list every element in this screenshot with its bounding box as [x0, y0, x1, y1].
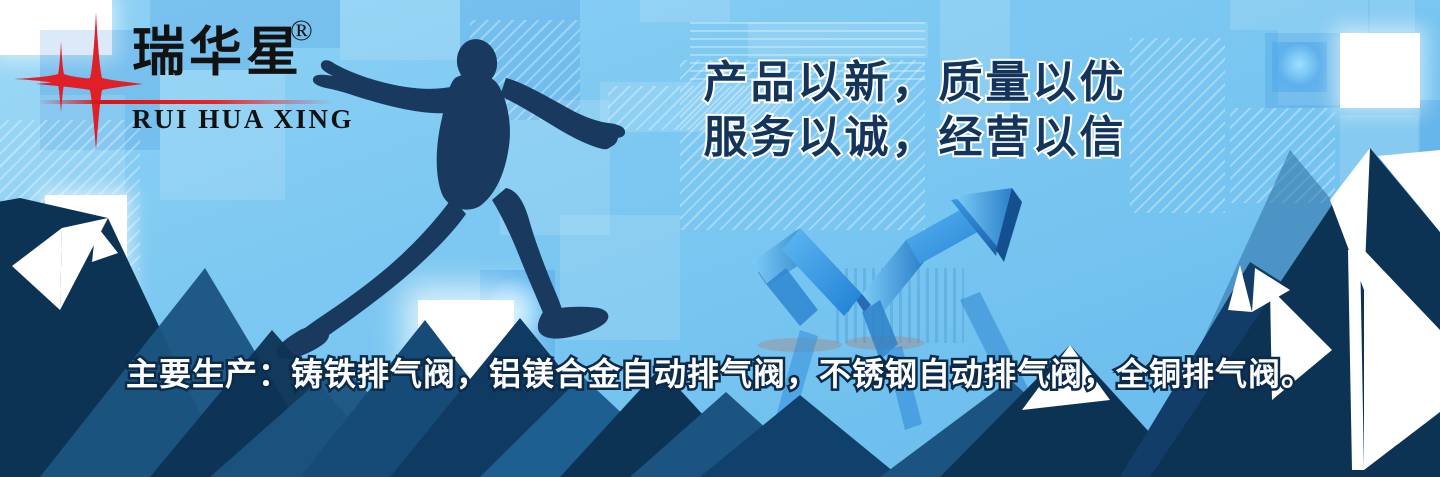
brand-name-cn: 瑞华星	[132, 26, 303, 79]
registered-mark-icon: ®	[290, 16, 313, 46]
promo-banner: 瑞华星 ® RUI HUA XING 产品以新，质量以优 服务以诚，经营以信 主…	[0, 0, 1440, 477]
slogan-line-1: 产品以新，质量以优	[660, 56, 1170, 111]
product-list-text: 主要生产：铸铁排气阀，铝镁合金自动排气阀，不锈钢自动排气阀，全铜排气阀。	[126, 349, 1314, 395]
slogan-line-2: 服务以诚，经营以信	[660, 111, 1170, 166]
slogan-block: 产品以新，质量以优 服务以诚，经营以信	[660, 56, 1170, 165]
brand-name-en: RUI HUA XING	[132, 106, 354, 133]
product-list-block: 主要生产：铸铁排气阀，铝镁合金自动排气阀，不锈钢自动排气阀，全铜排气阀。	[0, 349, 1440, 395]
company-logo: 瑞华星 ® RUI HUA XING	[14, 8, 344, 148]
red-star-icon	[14, 8, 144, 153]
